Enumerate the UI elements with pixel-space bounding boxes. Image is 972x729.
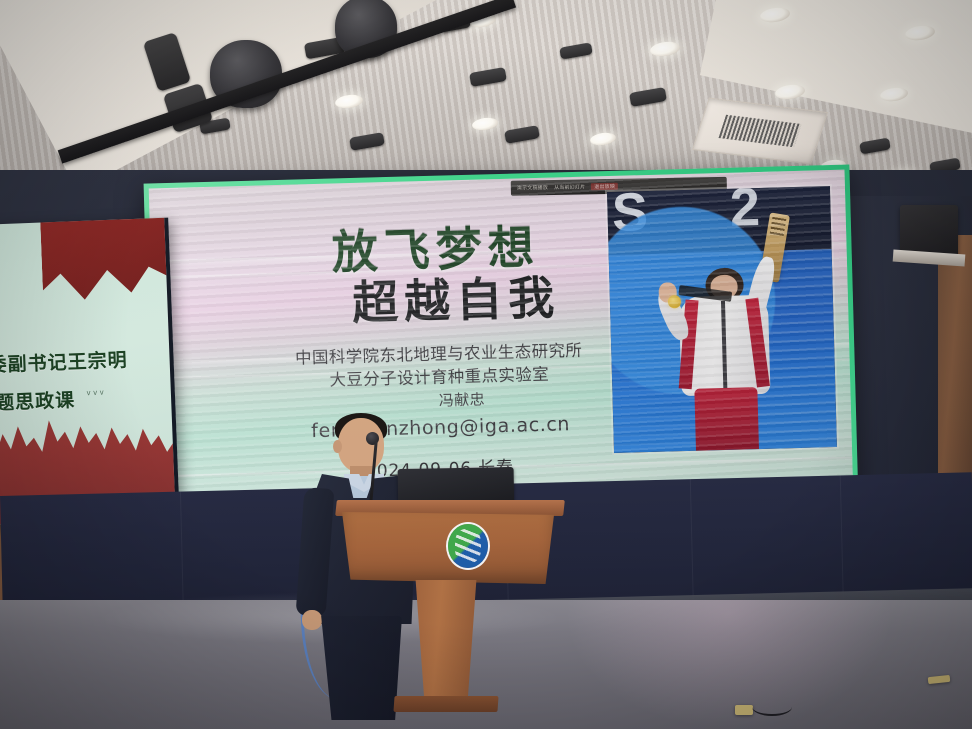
downlight [471,116,498,132]
floor-object-box [735,705,753,715]
toolbar-label-left[interactable]: 演示文稿播放 [517,184,548,192]
spotlight [469,67,507,87]
wall-speaker [900,205,958,257]
floor-color-reflection [564,600,894,729]
slide-title-line2: 超越自我 [259,271,654,329]
institute-globe-emblem-icon [444,520,492,572]
hvac-grille [719,114,802,147]
banner-birds-decoration: ᵛ ᵛ ᵛ [87,387,148,429]
podium-stem [408,580,484,706]
banner-ribbon-decoration [40,218,173,309]
downlight [649,40,681,58]
banner-text-line1: 、党委副书记王宗明 [0,345,128,379]
globe-icon [448,524,488,568]
banner-text-line2: 讲授专题思政课 [0,385,76,417]
left-banner-board: 、党委副书记王宗明 讲授专题思政课 ᵛ ᵛ ᵛ [0,218,180,527]
toolbar-exit-chip[interactable]: 退出放映 [591,183,618,190]
hvac-ceiling-cassette [692,98,828,165]
presenter-hand [302,610,322,630]
downlight [334,93,364,110]
gold-medal-icon [668,295,682,308]
floor-object-strip [928,675,951,684]
lectern-podium [336,500,564,715]
slide-title-line1: 放飞梦想 [220,221,653,280]
presenter-ear [333,440,342,453]
screen-surface: 演示文稿播放 从当前幻灯片 退出放映 放飞梦想 超越自我 中国科学院东北地理与农… [149,170,854,515]
slide-athlete-photo: S 2 [607,186,837,453]
slide-title-block: 放飞梦想 超越自我 [220,221,654,330]
floor-cable [752,698,792,716]
spotlight [504,125,540,144]
spotlight [559,42,593,59]
lecture-hall-photo: 演示文稿播放 从当前幻灯片 退出放映 放飞梦想 超越自我 中国科学院东北地理与农… [0,0,972,729]
spotlight [859,137,891,154]
toolbar-label-middle[interactable]: 从当前幻灯片 [554,183,585,191]
athlete-pants [695,387,759,451]
spotlight [349,132,385,151]
downlight [589,131,616,147]
podium-base [393,696,498,712]
slide-subtitle-block: 中国科学院东北地理与农业生态研究所 大豆分子设计育种重点实验室 冯献忠 feng… [209,337,671,444]
spotlight [629,87,667,107]
